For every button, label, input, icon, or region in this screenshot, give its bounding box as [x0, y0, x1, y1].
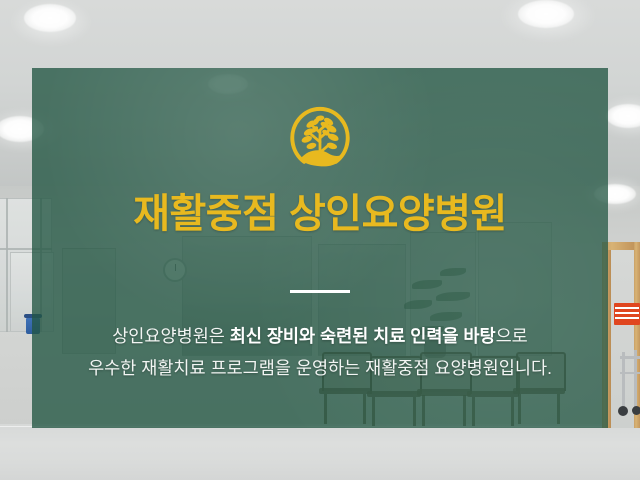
hero-description: 상인요양병원은 최신 장비와 숙련된 치료 인력을 바탕으로 우수한 재활치료 … [88, 320, 552, 385]
ceiling-light-icon [518, 0, 574, 28]
hero-banner-stage: 재활중점 상인요양병원 상인요양병원은 최신 장비와 숙련된 치료 인력을 바탕… [0, 0, 640, 480]
hero-description-lead: 상인요양병원은 [112, 326, 230, 346]
walker-wheel-icon [632, 406, 640, 415]
walker-frame [634, 350, 637, 410]
page-title: 재활중점 상인요양병원 [133, 192, 507, 236]
walker-wheel-icon [618, 406, 628, 416]
walker-frame [622, 352, 625, 410]
hero-description-line-2: 우수한 재활치료 프로그램을 운영하는 재활중점 요양병원입니다. [88, 352, 552, 384]
walker-frame [620, 372, 640, 374]
hero-description-emphasis: 최신 장비와 숙련된 치료 인력을 바탕 [230, 326, 496, 346]
walker-frame [620, 356, 640, 359]
emergency-sign-icon [614, 303, 640, 325]
tree-in-circle-logo [287, 101, 353, 171]
hero-overlay-panel: 재활중점 상인요양병원 상인요양병원은 최신 장비와 숙련된 치료 인력을 바탕… [32, 68, 608, 428]
partition-mullion [6, 198, 8, 332]
ceiling-light-icon [24, 4, 76, 32]
floor-surface [0, 424, 640, 480]
hero-description-line-1: 상인요양병원은 최신 장비와 숙련된 치료 인력을 바탕으로 [88, 320, 552, 352]
hero-description-tail: 으로 [496, 326, 528, 346]
horizontal-rule-divider [290, 290, 350, 293]
